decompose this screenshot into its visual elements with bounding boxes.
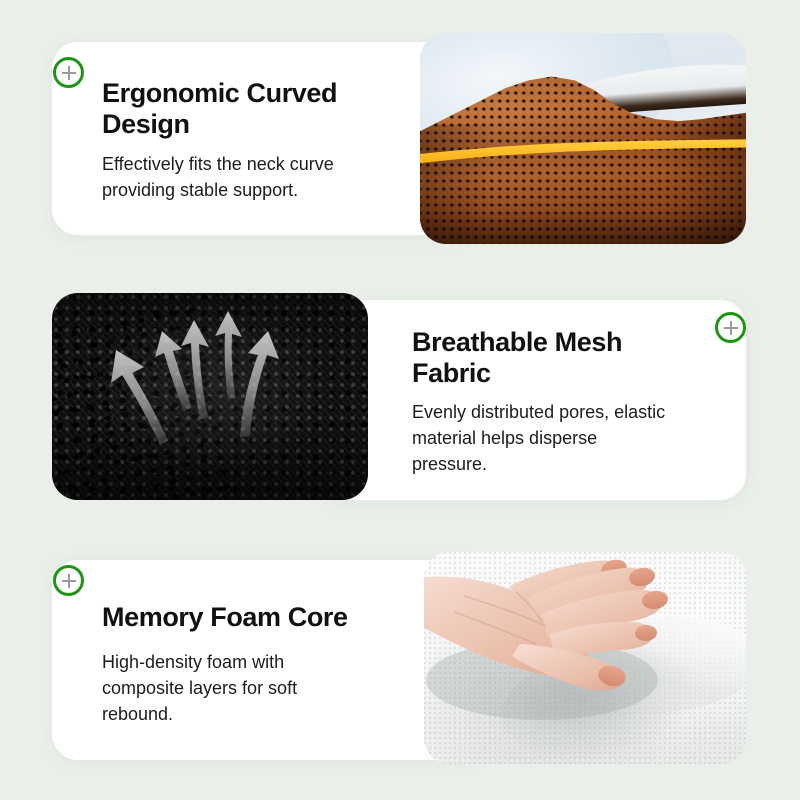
feature-body-breathable-mesh-fabric: Evenly distributed pores, elastic materi… <box>412 400 742 478</box>
pillow-bottom-shadow <box>420 210 746 244</box>
features-infographic: Ergonomic Curved Design Effectively fits… <box>0 0 800 800</box>
hand-illustration <box>424 552 746 764</box>
feature-heading-breathable-mesh-fabric: Breathable Mesh Fabric <box>412 327 712 390</box>
airflow-arrow-set <box>111 311 279 445</box>
feature-card-memory-foam-core[interactable]: Memory Foam Core High-density foam with … <box>52 560 472 760</box>
feature-body-memory-foam-core: High-density foam with composite layers … <box>102 650 442 728</box>
feature-row-ergonomic-curved-design: Ergonomic Curved Design Effectively fits… <box>0 0 800 265</box>
feature-card-breathable-mesh-fabric[interactable]: Breathable Mesh Fabric Evenly distribute… <box>330 300 746 500</box>
memory-foam-hand-photo <box>424 552 746 764</box>
feature-row-breathable-mesh-fabric: Breathable Mesh Fabric Evenly distribute… <box>0 265 800 530</box>
airflow-arrow-4 <box>215 311 242 399</box>
plus-icon-breathable-mesh-fabric[interactable] <box>715 312 746 343</box>
feature-row-memory-foam-core: Memory Foam Core High-density foam with … <box>0 530 800 800</box>
breathable-mesh-photo <box>52 293 368 500</box>
plus-icon-memory-foam-core[interactable] <box>53 565 84 596</box>
ergonomic-pillow-photo <box>420 33 746 244</box>
feature-body-ergonomic-curved-design: Effectively fits the neck curve providin… <box>102 152 452 204</box>
plus-icon-ergonomic-curved-design[interactable] <box>53 57 84 88</box>
feature-card-ergonomic-curved-design[interactable]: Ergonomic Curved Design Effectively fits… <box>52 42 472 235</box>
feature-heading-ergonomic-curved-design: Ergonomic Curved Design <box>102 78 452 141</box>
airflow-arrow-1 <box>111 350 168 445</box>
airflow-arrows-group <box>52 293 368 500</box>
feature-heading-memory-foam-core: Memory Foam Core <box>102 602 462 633</box>
airflow-arrow-5 <box>240 331 279 437</box>
